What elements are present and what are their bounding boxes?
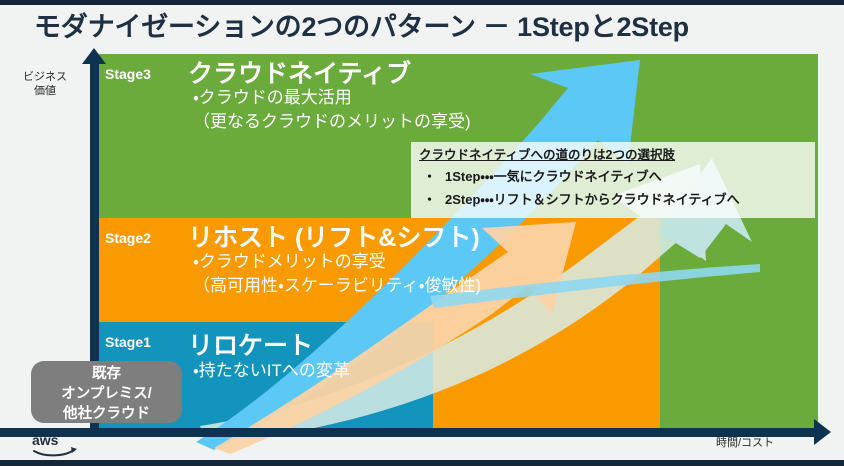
callout-bullet-icon-1: ・ <box>419 165 445 188</box>
y-axis-label-line-2: 価値 <box>8 84 82 98</box>
y-axis-label: ビジネス 価値 <box>8 70 82 98</box>
callout-bullet-icon-2: ・ <box>419 188 445 211</box>
y-axis-arrow-icon <box>82 48 106 64</box>
stage1-title: リロケート <box>188 326 313 362</box>
stage3-tag: Stage3 <box>105 66 151 82</box>
callout-item-1step: ・ 1Step・・・一気にクラウドネイティブへ <box>419 165 807 188</box>
stage1-bullet-line-1: ・持たないITへの変革 <box>193 359 350 383</box>
stage2-title: リホスト (リフト&シフト) <box>188 218 480 254</box>
callout-box: クラウドネイティブへの道のりは2つの選択肢 ・ 1Step・・・一気にクラウドネ… <box>411 142 815 218</box>
callout-heading: クラウドネイティブへの道のりは2つの選択肢 <box>419 146 807 165</box>
legacy-pill-line-1: 既存 <box>31 364 182 384</box>
x-axis-arrow-icon <box>814 419 831 445</box>
legacy-environment-pill: 既存 オンプレミス/ 他社クラウド <box>31 361 182 423</box>
stage2-lower-fill <box>433 322 660 428</box>
stage2-bullet-line-1: ・クラウドメリットの享受 <box>193 250 481 274</box>
aws-logo-text: aws <box>32 432 59 448</box>
top-band <box>0 0 844 5</box>
stage3-bullet-line-1: ・クラウドの最大活用 <box>193 86 471 110</box>
y-axis-label-line-1: ビジネス <box>8 70 82 84</box>
stage2-bullet-line-2: （高可用性・スケーラビリティ・俊敏性) <box>193 274 481 298</box>
bottom-band <box>0 460 844 466</box>
stage2-bullets: ・クラウドメリットの享受 （高可用性・スケーラビリティ・俊敏性) <box>193 250 481 298</box>
legacy-pill-line-3: 他社クラウド <box>31 404 182 424</box>
stage1-bullets: ・持たないITへの変革 <box>193 359 350 383</box>
slide-canvas: モダナイゼーションの2つのパターン － 1Stepと2Step <box>0 0 844 466</box>
callout-item-2step: ・ 2Step・・・リフト＆シフトからクラウドネイティブへ <box>419 188 807 211</box>
stage2-tag: Stage2 <box>105 230 151 246</box>
x-axis-label: 時間/コスト <box>690 436 800 450</box>
legacy-pill-line-2: オンプレミス/ <box>31 384 182 404</box>
callout-item-2step-label: 2Step・・・リフト＆シフトからクラウドネイティブへ <box>445 188 740 211</box>
stage3-right-fill <box>660 218 818 428</box>
stage3-title: クラウドネイティブ <box>188 54 411 90</box>
stage1-tag: Stage1 <box>105 334 151 350</box>
stage3-bullet-line-2: （更なるクラウドのメリットの享受) <box>193 110 471 134</box>
callout-item-1step-label: 1Step・・・一気にクラウドネイティブへ <box>445 165 662 188</box>
aws-logo-icon: aws <box>30 430 84 458</box>
stage3-bullets: ・クラウドの最大活用 （更なるクラウドのメリットの享受) <box>193 86 471 134</box>
page-title: モダナイゼーションの2つのパターン － 1Stepと2Step <box>34 8 814 46</box>
